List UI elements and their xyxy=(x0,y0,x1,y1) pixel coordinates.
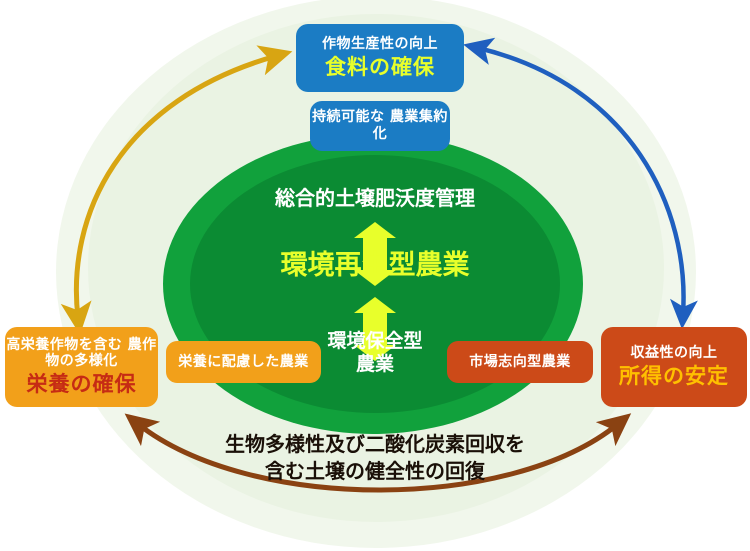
box-income-stability-headline: 所得の安定 xyxy=(619,364,729,389)
box-nutrition-security-headline: 栄養の確保 xyxy=(27,372,137,397)
box-food-security-sub: 作物生産性の向上 xyxy=(322,36,438,53)
core-label-conservation-agriculture: 環境保全型 農業 xyxy=(300,330,450,376)
bottom-caption: 生物多様性及び二酸化炭素回収を 含む土壌の健全性の回復 xyxy=(195,431,555,485)
box-sustainable-intensification-sub: 持続可能な 農業集約化 xyxy=(310,109,450,144)
box-nutrition-security[interactable]: 高栄養作物を含む 農作物の多様化 栄養の確保 xyxy=(5,327,158,407)
box-food-security-headline: 食料の確保 xyxy=(325,55,435,80)
box-market-oriented-agriculture-sub: 市場志向型農業 xyxy=(469,354,571,371)
diagram-canvas: 総合的土壌肥沃度管理 環境再生型農業 環境保全型 農業 作物生産性の向上 食料の… xyxy=(0,0,750,551)
core-label-isfm: 総合的土壌肥沃度管理 xyxy=(225,186,525,210)
core-label-regenerative-agriculture: 環境再生型農業 xyxy=(215,250,535,282)
box-food-security[interactable]: 作物生産性の向上 食料の確保 xyxy=(296,24,464,92)
box-income-stability-sub: 収益性の向上 xyxy=(631,345,718,362)
box-market-oriented-agriculture[interactable]: 市場志向型農業 xyxy=(447,341,593,383)
box-nutrition-sensitive-agriculture[interactable]: 栄養に配慮した農業 xyxy=(166,341,321,383)
box-nutrition-security-sub: 高栄養作物を含む 農作物の多様化 xyxy=(5,337,158,371)
box-income-stability[interactable]: 収益性の向上 所得の安定 xyxy=(601,327,747,407)
box-nutrition-sensitive-agriculture-sub: 栄養に配慮した農業 xyxy=(178,354,309,371)
box-sustainable-intensification[interactable]: 持続可能な 農業集約化 xyxy=(310,101,450,151)
